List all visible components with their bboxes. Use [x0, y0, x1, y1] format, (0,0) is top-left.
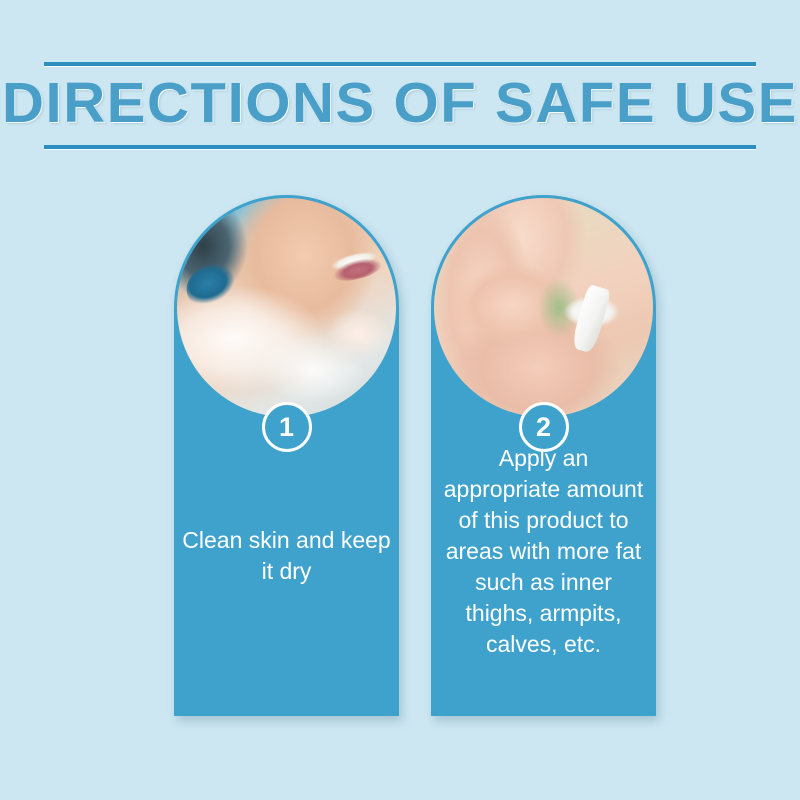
- step-1-photo: [177, 198, 396, 417]
- step-1-number-badge: 1: [262, 402, 312, 452]
- step-2-photo: [434, 198, 653, 417]
- step-2-caption: Apply an appropriate amount of this prod…: [439, 443, 648, 660]
- step-card-1: 1 Clean skin and keep it dry: [174, 195, 399, 716]
- steps-container: 1 Clean skin and keep it dry 2 Apply an …: [0, 0, 800, 800]
- step-1-caption: Clean skin and keep it dry: [182, 525, 391, 587]
- step-card-2: 2 Apply an appropriate amount of this pr…: [431, 195, 656, 716]
